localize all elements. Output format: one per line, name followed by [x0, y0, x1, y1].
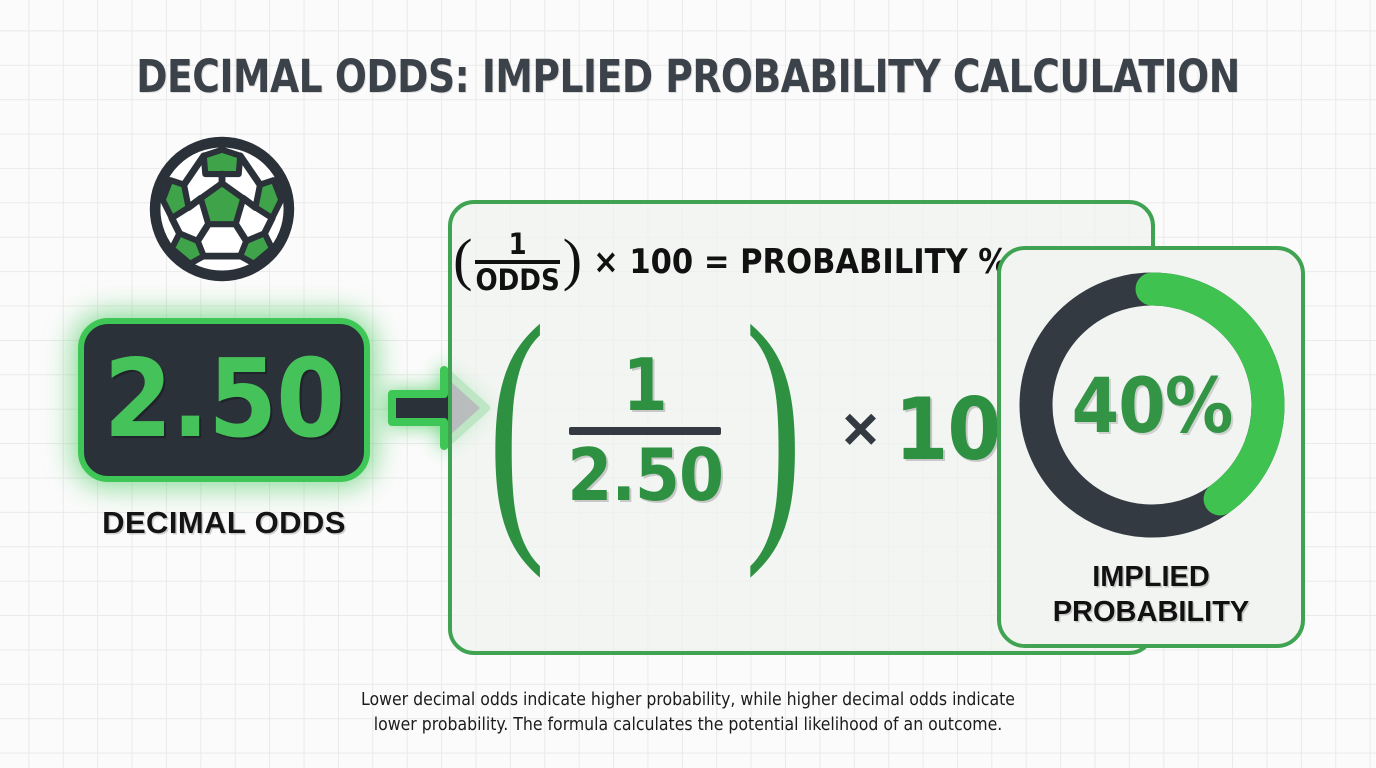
page-title: DECIMAL ODDS: IMPLIED PROBABILITY CALCUL…: [48, 50, 1328, 103]
formula-header: ( 1 ODDS ) × 100 = PROBABILITY %: [470, 233, 990, 291]
probability-percent-value: 40%: [1019, 272, 1285, 538]
footer-note: Lower decimal odds indicate higher proba…: [338, 688, 1038, 739]
big-formula: ( 1 2.50 ) × 100 =: [470, 330, 990, 530]
implied-probability-label-line1: IMPLIED: [1001, 560, 1301, 595]
soccer-ball-icon: [146, 133, 298, 285]
implied-probability-label: IMPLIED PROBABILITY: [1001, 560, 1301, 631]
formula-header-numerator: 1: [509, 230, 527, 260]
decimal-odds-label: DECIMAL ODDS: [78, 505, 370, 541]
big-formula-denominator: 2.50: [567, 439, 723, 511]
big-formula-fraction: 1 2.50: [567, 349, 723, 511]
big-formula-numerator: 1: [623, 349, 668, 421]
implied-probability-label-line2: PROBABILITY: [1001, 595, 1301, 630]
decimal-odds-card: 2.50: [78, 318, 370, 482]
multiply-sign: ×: [842, 399, 878, 461]
decimal-odds-value: 2.50: [104, 346, 344, 454]
